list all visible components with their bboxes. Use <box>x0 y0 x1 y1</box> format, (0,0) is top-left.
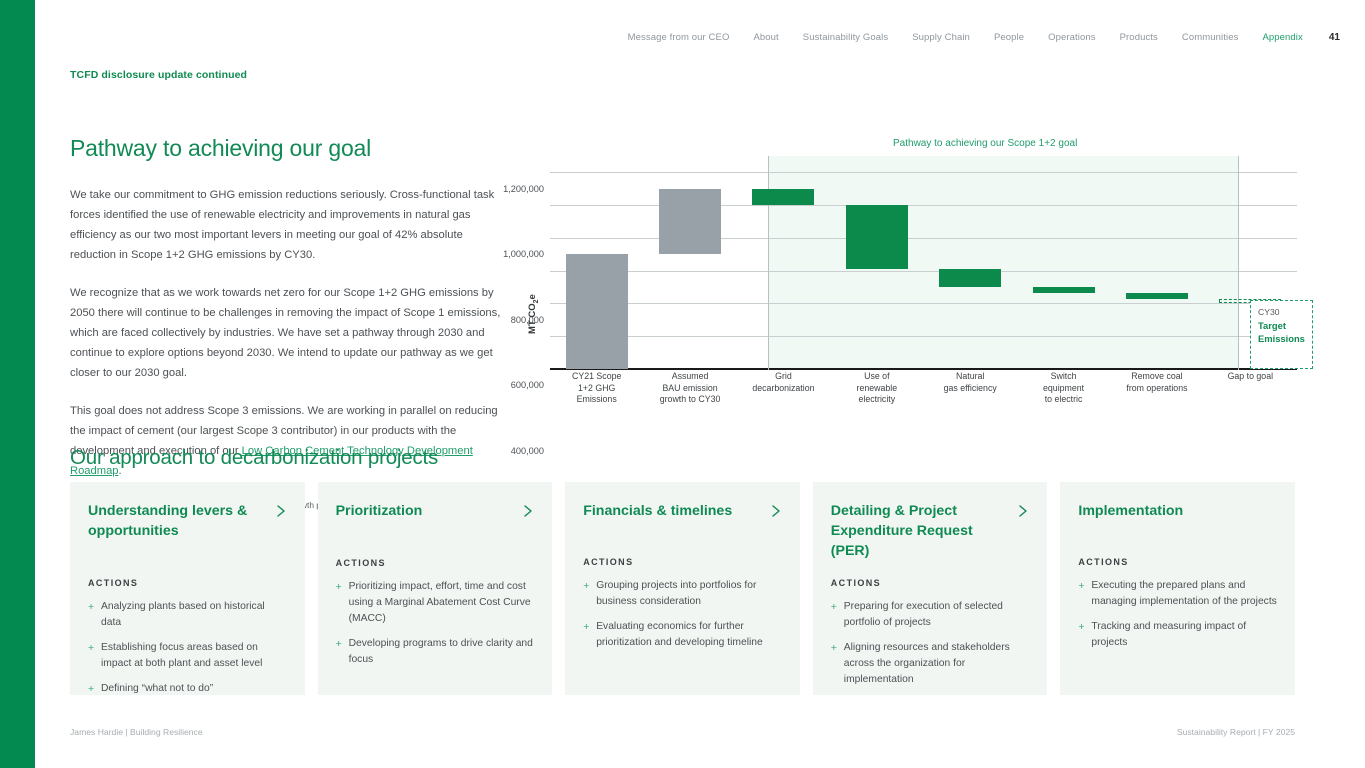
x-axis-tick-label-line: 1+2 GHG <box>550 383 643 395</box>
x-axis-tick-label-line: to electric <box>1017 394 1110 406</box>
waterfall-bar <box>846 205 908 269</box>
x-axis-tick-label: AssumedBAU emissiongrowth to CY30 <box>643 371 736 406</box>
x-axis-tick-label-line: Switch <box>1017 371 1110 383</box>
list-item: +Defining “what not to do” <box>88 681 287 697</box>
chart-x-axis <box>550 368 1297 370</box>
approach-card-header: Detailing & Project Expenditure Request … <box>831 501 1030 561</box>
list-item-label: Aligning resources and stakeholders acro… <box>844 642 1010 685</box>
list-item: +Prioritizing impact, effort, time and c… <box>336 579 535 627</box>
y-axis-tick-label: 1,000,000 <box>503 249 544 259</box>
x-axis-tick-label: Switchequipmentto electric <box>1017 371 1110 406</box>
waterfall-bar <box>659 189 721 255</box>
footer-right: Sustainability Report | FY 2025 <box>1177 727 1295 737</box>
chevron-right-icon[interactable] <box>275 504 287 518</box>
y-axis-tick-label: 400,000 <box>511 446 544 456</box>
approach-card[interactable]: ImplementationACTIONS+Executing the prep… <box>1060 482 1295 695</box>
waterfall-bar <box>939 269 1001 287</box>
list-item-label: Prioritizing impact, effort, time and co… <box>349 581 531 624</box>
paragraph-1: We take our commitment to GHG emission r… <box>70 185 505 265</box>
page-number: 41 <box>1329 32 1340 43</box>
approach-card-header: Understanding levers & opportunities <box>88 501 287 541</box>
waterfall-bar <box>566 254 628 369</box>
approach-card-title: Understanding levers & opportunities <box>88 501 269 541</box>
approach-card-header: Implementation <box>1078 501 1277 521</box>
list-item-label: Grouping projects into portfolios for bu… <box>596 580 756 607</box>
approach-card[interactable]: PrioritizationACTIONS+Prioritizing impac… <box>318 482 553 695</box>
nav-item-operations[interactable]: Operations <box>1036 32 1107 43</box>
cy30-target-emissions-callout: CY30TargetEmissions <box>1250 300 1313 369</box>
list-item-label: Executing the prepared plans and managin… <box>1091 580 1276 607</box>
x-axis-tick-label-line: Gap to goal <box>1204 371 1297 383</box>
chart-region-divider <box>1238 156 1239 370</box>
nav-item-appendix[interactable]: Appendix <box>1250 32 1314 43</box>
approach-card[interactable]: Financials & timelinesACTIONS+Grouping p… <box>565 482 800 695</box>
actions-list: +Executing the prepared plans and managi… <box>1078 578 1277 660</box>
plus-icon: + <box>88 681 94 697</box>
chart-title: Pathway to achieving our Scope 1+2 goal <box>893 138 1077 149</box>
x-axis-tick-label-line: decarbonization <box>737 383 830 395</box>
list-item-label: Evaluating economics for further priorit… <box>596 621 763 648</box>
x-axis-tick-label-line: BAU emission <box>643 383 736 395</box>
chart-plot-area: 200,000400,000600,000800,0001,000,0001,2… <box>550 156 1297 369</box>
gridline: 400,000 <box>550 303 1297 304</box>
x-axis-tick-label-line: gas efficiency <box>924 383 1017 395</box>
plus-icon: + <box>1078 578 1084 594</box>
list-item: +Grouping projects into portfolios for b… <box>583 578 782 610</box>
x-axis-tick-label-line: from operations <box>1110 383 1203 395</box>
actions-label: ACTIONS <box>1078 557 1277 567</box>
x-axis-tick-label-line: Emissions <box>550 394 643 406</box>
callout-target-label-line2: Emissions <box>1251 333 1312 346</box>
actions-list: +Grouping projects into portfolios for b… <box>583 578 782 660</box>
list-item: +Aligning resources and stakeholders acr… <box>831 640 1030 688</box>
approach-card-header: Financials & timelines <box>583 501 782 521</box>
plus-icon: + <box>336 579 342 595</box>
page-title: Pathway to achieving our goal <box>70 135 505 163</box>
approach-card[interactable]: Detailing & Project Expenditure Request … <box>813 482 1048 695</box>
callout-target-label-line1: Target <box>1251 320 1312 333</box>
approach-card[interactable]: Understanding levers & opportunitiesACTI… <box>70 482 305 695</box>
x-axis-tick-label-line: Natural <box>924 371 1017 383</box>
x-axis-tick-label-line: Assumed <box>643 371 736 383</box>
plus-icon: + <box>88 599 94 615</box>
x-axis-tick-label: Gap to goal <box>1204 371 1297 383</box>
gridline: 600,000 <box>550 271 1297 272</box>
x-axis-tick-label-line: Use of <box>830 371 923 383</box>
actions-list: +Prioritizing impact, effort, time and c… <box>336 579 535 677</box>
x-axis-tick-label-line: renewable <box>830 383 923 395</box>
list-item-label: Developing programs to drive clarity and… <box>349 638 533 665</box>
y-axis-tick-label: 600,000 <box>511 380 544 390</box>
list-item: +Establishing focus areas based on impac… <box>88 640 287 672</box>
chart-x-axis-labels: CY21 Scope1+2 GHGEmissionsAssumedBAU emi… <box>550 371 1297 411</box>
actions-label: ACTIONS <box>583 557 782 567</box>
brand-accent-strip <box>0 0 35 768</box>
plus-icon: + <box>1078 619 1084 635</box>
actions-label: ACTIONS <box>831 578 1030 588</box>
chevron-right-icon[interactable] <box>1017 504 1029 518</box>
nav-item-message-from-our-ceo[interactable]: Message from our CEO <box>616 32 742 43</box>
waterfall-bar <box>1033 287 1095 293</box>
plus-icon: + <box>831 640 837 656</box>
list-item: +Preparing for execution of selected por… <box>831 599 1030 631</box>
list-item-label: Defining “what not to do” <box>101 683 213 694</box>
list-item: +Evaluating economics for further priori… <box>583 619 782 651</box>
waterfall-bar <box>1126 293 1188 299</box>
callout-year-label: CY30 <box>1251 301 1312 320</box>
nav-item-products[interactable]: Products <box>1108 32 1170 43</box>
list-item-label: Tracking and measuring impact of project… <box>1091 621 1246 648</box>
x-axis-tick-label: CY21 Scope1+2 GHGEmissions <box>550 371 643 406</box>
nav-item-communities[interactable]: Communities <box>1170 32 1251 43</box>
waterfall-bar <box>752 189 814 205</box>
approach-card-title: Detailing & Project Expenditure Request … <box>831 501 1012 561</box>
nav-item-people[interactable]: People <box>982 32 1036 43</box>
section-eyebrow: TCFD disclosure update continued <box>70 69 247 81</box>
x-axis-tick-label: Use ofrenewableelectricity <box>830 371 923 406</box>
report-page: Message from our CEOAboutSustainability … <box>0 0 1365 768</box>
approach-card-title: Financials & timelines <box>583 501 732 521</box>
plus-icon: + <box>583 578 589 594</box>
actions-list: +Analyzing plants based on historical da… <box>88 599 287 706</box>
list-item-label: Analyzing plants based on historical dat… <box>101 601 265 628</box>
paragraph-2: We recognize that as we work towards net… <box>70 283 505 383</box>
gridline: 1,200,000 <box>550 172 1297 173</box>
y-axis-tick-label: 800,000 <box>511 315 544 325</box>
list-item: +Tracking and measuring impact of projec… <box>1078 619 1277 651</box>
list-item-label: Establishing focus areas based on impact… <box>101 642 262 669</box>
approach-heading: Our approach to decarbonization projects <box>70 446 438 470</box>
plus-icon: + <box>88 640 94 656</box>
list-item: +Analyzing plants based on historical da… <box>88 599 287 631</box>
x-axis-tick-label-line: CY21 Scope <box>550 371 643 383</box>
top-navigation: Message from our CEOAboutSustainability … <box>640 27 1340 47</box>
gridline: 200,000 <box>550 336 1297 337</box>
x-axis-tick-label-line: Remove coal <box>1110 371 1203 383</box>
approach-cards: Understanding levers & opportunitiesACTI… <box>70 482 1295 695</box>
actions-label: ACTIONS <box>336 558 535 568</box>
x-axis-tick-label-line: growth to CY30 <box>643 394 736 406</box>
x-axis-tick-label: Remove coalfrom operations <box>1110 371 1203 394</box>
x-axis-tick-label-line: electricity <box>830 394 923 406</box>
plus-icon: + <box>336 636 342 652</box>
list-item: +Executing the prepared plans and managi… <box>1078 578 1277 610</box>
plus-icon: + <box>831 599 837 615</box>
chevron-right-icon[interactable] <box>522 504 534 518</box>
list-item-label: Preparing for execution of selected port… <box>844 601 1003 628</box>
x-axis-tick-label: Griddecarbonization <box>737 371 830 394</box>
x-axis-tick-label-line: equipment <box>1017 383 1110 395</box>
approach-card-title: Implementation <box>1078 501 1183 521</box>
actions-list: +Preparing for execution of selected por… <box>831 599 1030 697</box>
y-axis-tick-label: 1,200,000 <box>503 184 544 194</box>
waterfall-chart: Pathway to achieving our Scope 1+2 goal … <box>528 138 1303 408</box>
approach-card-header: Prioritization <box>336 501 535 521</box>
approach-card-title: Prioritization <box>336 501 423 521</box>
nav-item-about[interactable]: About <box>741 32 790 43</box>
x-axis-tick-label: Naturalgas efficiency <box>924 371 1017 394</box>
nav-item-sustainability-goals[interactable]: Sustainability Goals <box>791 32 900 43</box>
footer-left: James Hardie | Building Resilience <box>70 727 203 737</box>
list-item: +Developing programs to drive clarity an… <box>336 636 535 668</box>
chevron-right-icon[interactable] <box>770 504 782 518</box>
actions-label: ACTIONS <box>88 578 287 588</box>
plus-icon: + <box>583 619 589 635</box>
nav-item-supply-chain[interactable]: Supply Chain <box>900 32 982 43</box>
x-axis-tick-label-line: Grid <box>737 371 830 383</box>
